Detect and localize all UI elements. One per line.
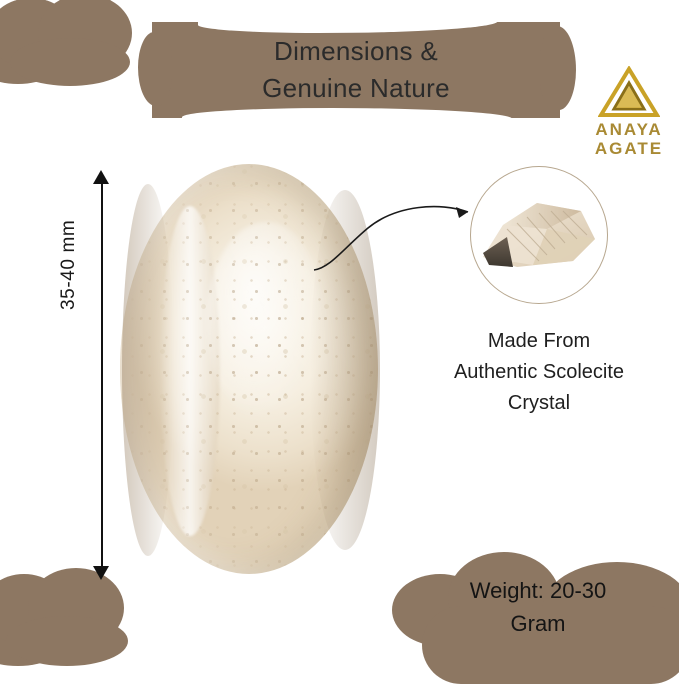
double-headed-vertical-arrow-icon xyxy=(92,170,112,580)
brand-name-line-2: AGATE xyxy=(586,139,672,158)
scolecite-crystal-photo xyxy=(477,195,601,275)
brand-name-line-1: ANAYA xyxy=(586,120,672,139)
crystal-inset-circle xyxy=(470,166,608,304)
crystal-caption: Made From Authentic Scolecite Crystal xyxy=(400,326,678,419)
triangle-logo-icon xyxy=(598,66,660,118)
page-title-line-1: Dimensions & xyxy=(274,33,438,70)
brand-logo: ANAYA AGATE xyxy=(586,66,672,166)
crystal-caption-line-1: Made From xyxy=(400,326,678,357)
brand-name: ANAYA AGATE xyxy=(586,120,672,158)
infographic-canvas: Dimensions & Genuine Nature ANAYA AGATE … xyxy=(0,0,679,679)
crystal-caption-line-2: Authentic Scolecite xyxy=(400,357,678,388)
crystal-caption-line-3: Crystal xyxy=(400,388,678,419)
page-title-line-2: Genuine Nature xyxy=(262,70,450,107)
weight-label-line-1: Weight: 20-30 xyxy=(404,574,672,607)
dimension-label: 35-40 mm xyxy=(58,220,80,310)
cloud-shape-bottom-left xyxy=(0,566,156,676)
weight-label-line-2: Gram xyxy=(404,607,672,640)
page-title: Dimensions & Genuine Nature xyxy=(152,22,560,118)
weight-label: Weight: 20-30 Gram xyxy=(404,574,672,640)
cloud-shape-top-left xyxy=(0,0,160,90)
